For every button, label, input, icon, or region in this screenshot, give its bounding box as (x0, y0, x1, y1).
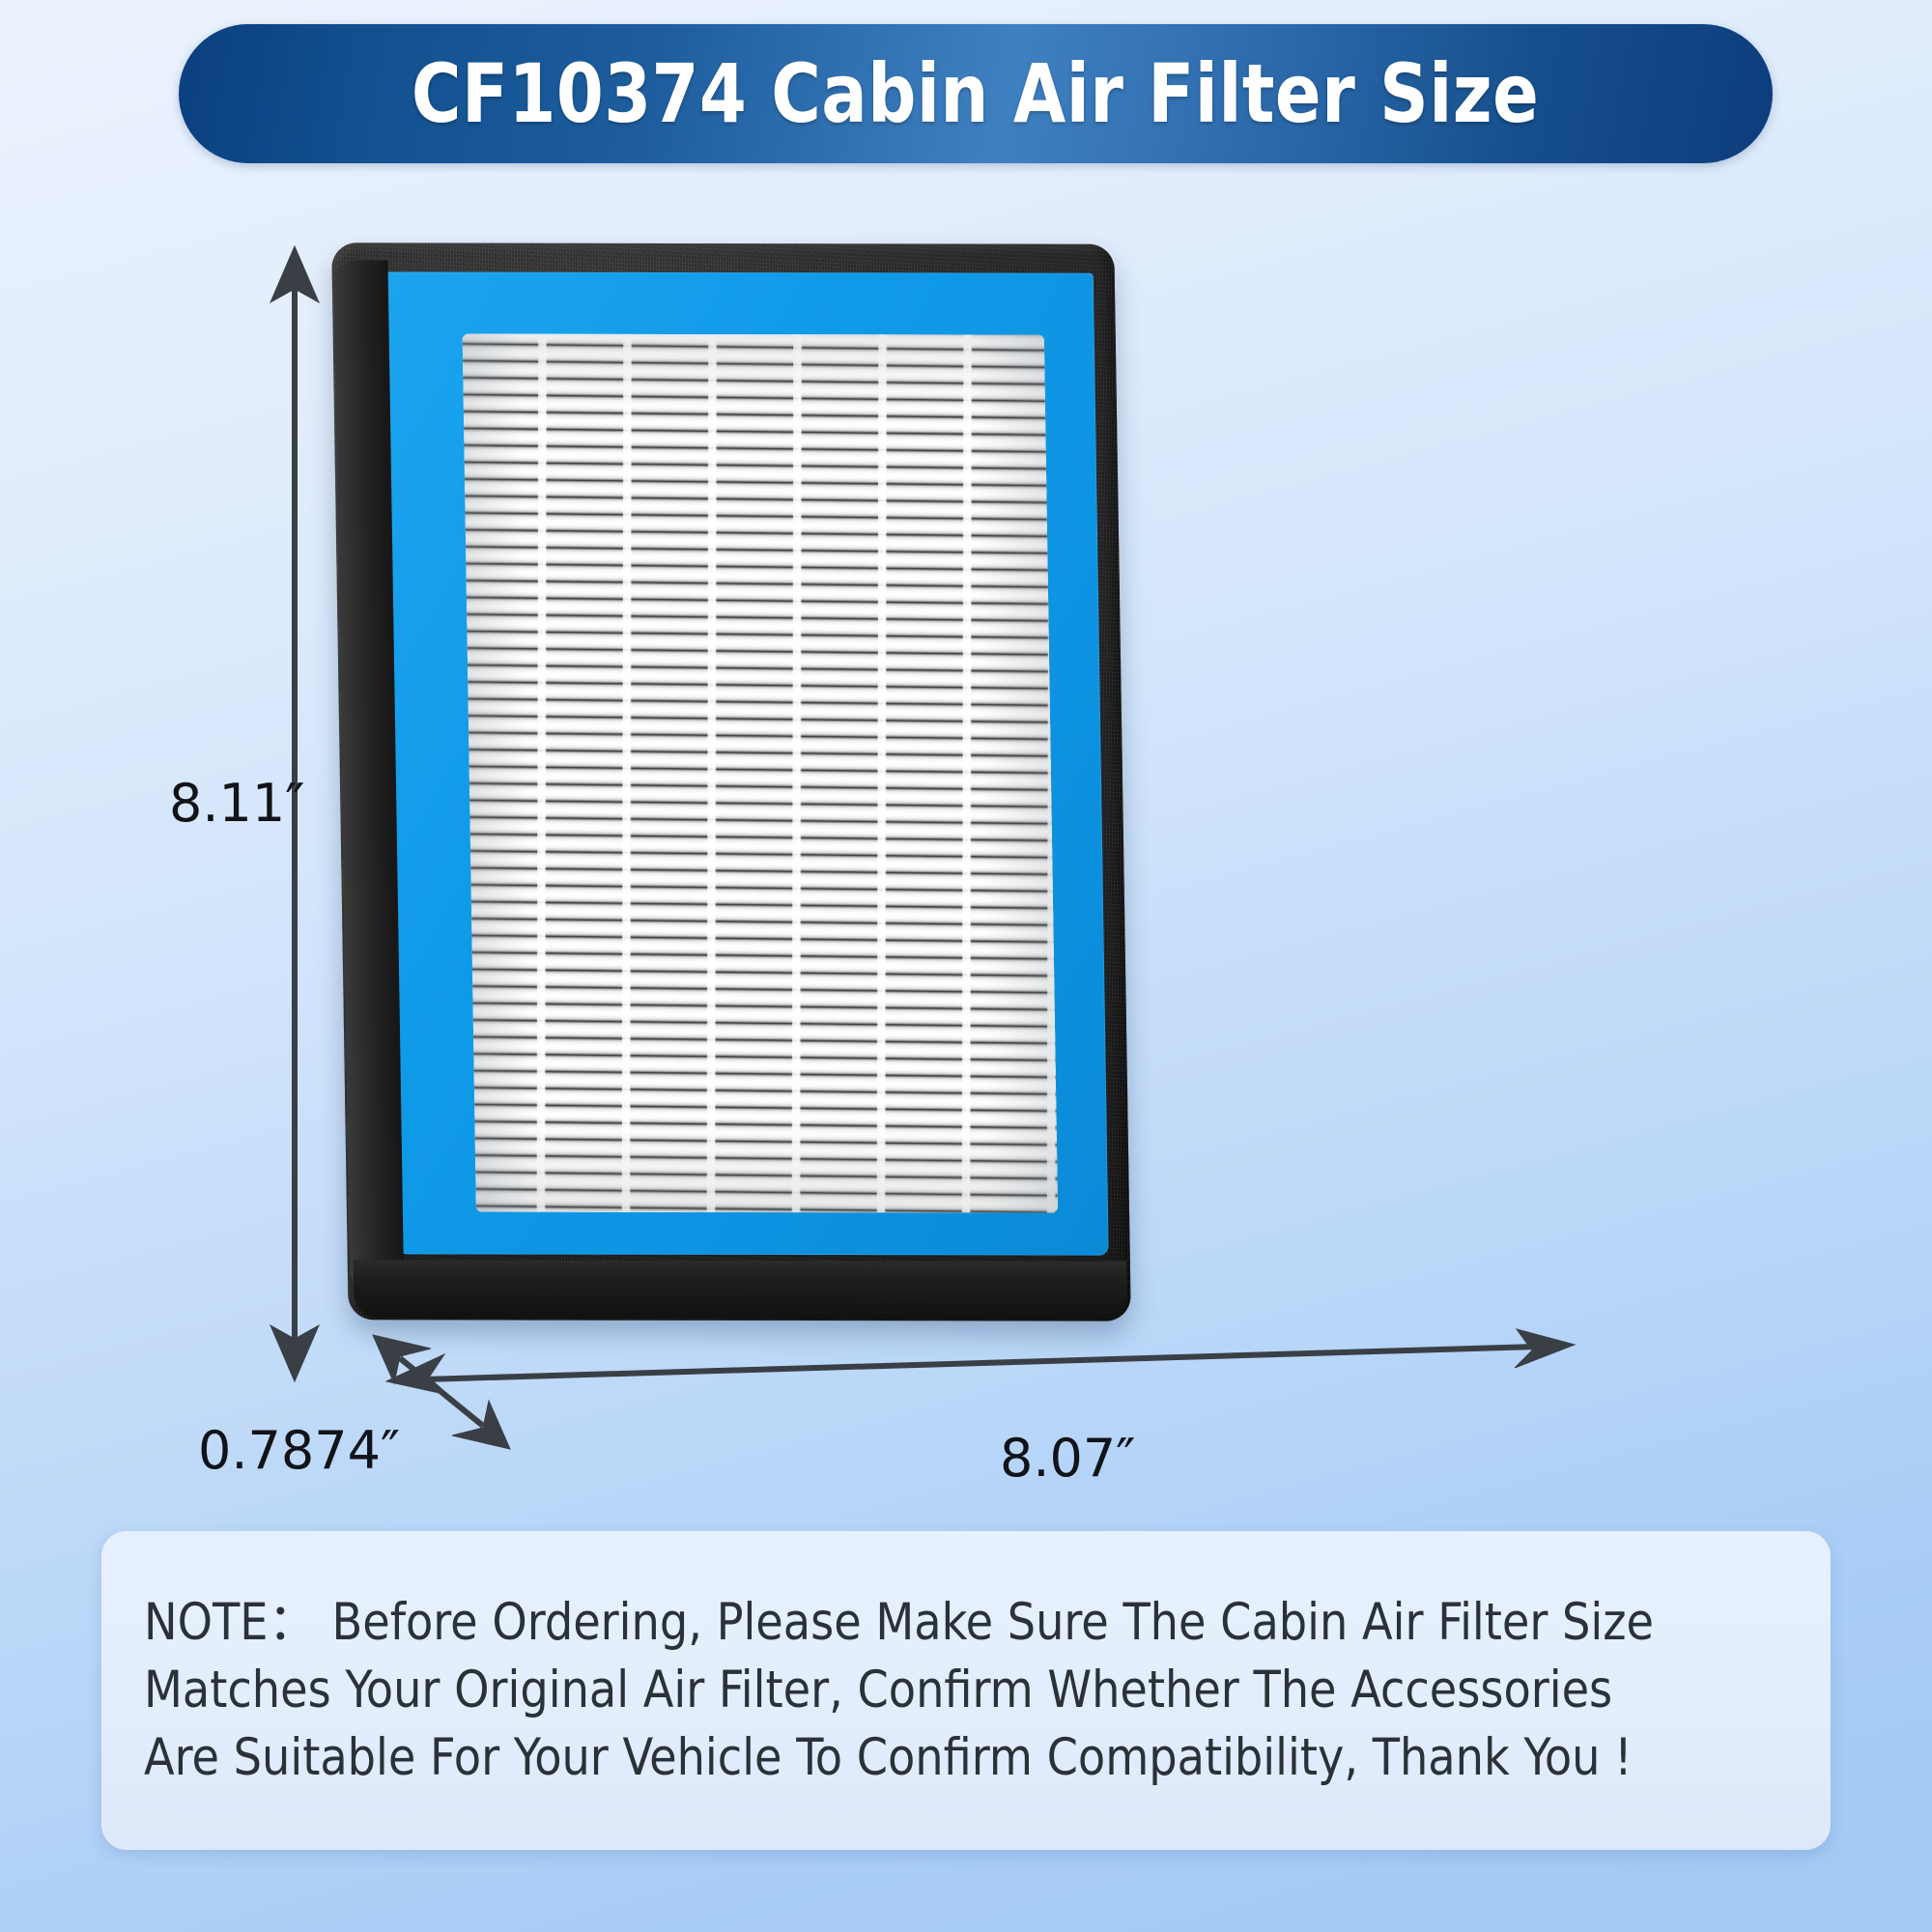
pleat-shading (463, 334, 1058, 1213)
note-line-3: Are Suitable For Your Vehicle To Confirm… (144, 1724, 1739, 1792)
filter-body (331, 242, 1131, 1321)
blue-inner-frame (383, 271, 1109, 1255)
pleated-media-window (463, 334, 1058, 1213)
note-line-2: Matches Your Original Air Filter, Confir… (144, 1657, 1739, 1724)
width-dimension-label: 8.07″ (1000, 1428, 1135, 1489)
height-dimension-label: 8.11″ (169, 773, 304, 834)
note-line-1: NOTE： Before Ordering, Please Make Sure … (144, 1589, 1739, 1657)
depth-dimension-label: 0.7874″ (198, 1420, 400, 1481)
note-box: NOTE： Before Ordering, Please Make Sure … (101, 1531, 1831, 1850)
title-banner: CF10374 Cabin Air Filter Size (179, 24, 1773, 163)
cabin-air-filter-image (340, 243, 1122, 1321)
page-title: CF10374 Cabin Air Filter Size (412, 46, 1539, 141)
